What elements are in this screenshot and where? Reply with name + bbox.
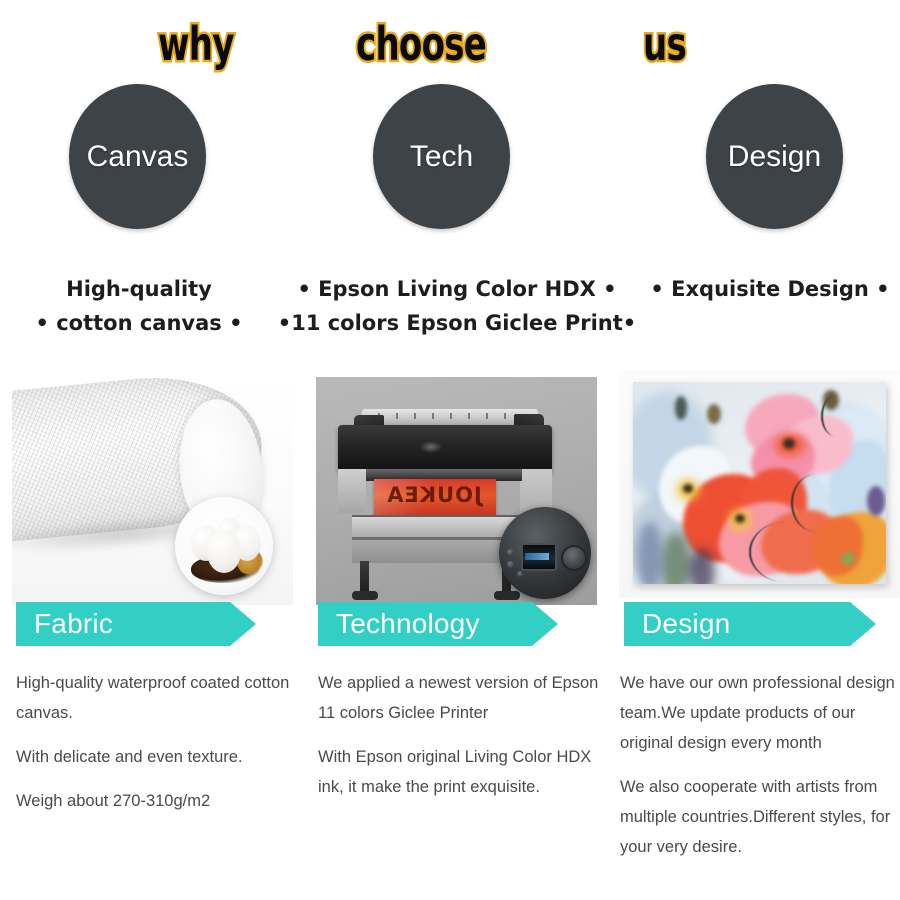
printer-foot-left <box>352 591 378 600</box>
printer-left-column <box>338 469 366 513</box>
headline-word-us: us <box>643 18 686 70</box>
headline-word-why: why <box>158 18 234 70</box>
cotton-boll <box>207 531 241 573</box>
printer-foot-right <box>494 591 520 600</box>
circle-label-tech: Tech <box>410 140 473 174</box>
feature-circle-tech: Tech <box>373 84 510 229</box>
feature-circle-canvas: Canvas <box>69 84 206 229</box>
description-column-fabric: High-quality waterproof coated cotton ca… <box>16 668 294 830</box>
bullet-block-design: • Exquisite Design • <box>650 272 890 306</box>
description-column-technology: We applied a newest version of Epson 11 … <box>318 668 600 816</box>
description-column-design: We have our own professional design team… <box>620 668 898 876</box>
bullet-block-tech: • Epson Living Color HDX • •11 colors Ep… <box>272 272 642 340</box>
canvas-roll-scene <box>12 377 293 605</box>
bullet-line: High-quality <box>24 272 254 306</box>
banner-label-design: Design <box>624 608 730 640</box>
control-panel-screen-glow <box>525 553 549 560</box>
headline-banner: why choose us <box>0 16 900 78</box>
printer-scene: JOUKEA <box>316 377 597 605</box>
flower-stem <box>821 396 849 436</box>
canvas-roll-photo <box>12 377 293 605</box>
flower-bud-purple <box>867 486 885 516</box>
circle-label-design: Design <box>728 140 821 174</box>
headline-word-choose: choose <box>356 18 486 70</box>
printer-top-bar-vents <box>378 413 518 419</box>
flower-center-dark <box>735 514 745 523</box>
printer-control-panel-inset <box>499 507 591 599</box>
cotton-boll-inset <box>175 497 273 595</box>
description-paragraph: We also cooperate with artists from mult… <box>620 772 898 862</box>
control-panel-dpad <box>561 545 587 571</box>
printer-leg-left <box>360 561 369 595</box>
control-panel-button <box>507 549 514 556</box>
printed-output-text: JOUKEA <box>378 483 490 507</box>
epson-large-format-printer-photo: JOUKEA <box>316 377 597 605</box>
description-paragraph: We have our own professional design team… <box>620 668 898 758</box>
floral-painting-canvas-photo <box>619 370 900 598</box>
control-panel-button <box>517 571 523 577</box>
flower-bud <box>707 404 721 424</box>
flower-bud <box>675 396 687 420</box>
bullet-line: • cotton canvas • <box>24 306 254 340</box>
description-paragraph: With delicate and even texture. <box>16 742 294 772</box>
flower-stem <box>791 474 841 532</box>
paint-drip-blue <box>637 522 663 584</box>
section-banner-fabric: Fabric <box>16 602 256 646</box>
description-paragraph: High-quality waterproof coated cotton ca… <box>16 668 294 728</box>
banner-label-technology: Technology <box>318 608 480 640</box>
banner-label-fabric: Fabric <box>16 608 113 640</box>
description-paragraph: Weigh about 270-310g/m2 <box>16 786 294 816</box>
description-paragraph: With Epson original Living Color HDX ink… <box>318 742 600 802</box>
control-panel-button <box>507 561 514 568</box>
flower-center-dark <box>683 484 693 493</box>
bullet-line: • Exquisite Design • <box>650 272 890 306</box>
flower-center-green <box>841 552 855 565</box>
circle-label-canvas: Canvas <box>87 140 189 174</box>
bullet-line: •11 colors Epson Giclee Print• <box>272 306 642 340</box>
bullet-line: • Epson Living Color HDX • <box>272 272 642 306</box>
painting-scene <box>619 370 900 598</box>
printer-main-body <box>338 425 552 473</box>
section-banner-design: Design <box>624 602 876 646</box>
printer-tray-seam <box>352 537 520 540</box>
flower-center-dark <box>783 438 795 449</box>
description-paragraph: We applied a newest version of Epson 11 … <box>318 668 600 728</box>
section-banner-technology: Technology <box>318 602 558 646</box>
painting-canvas <box>633 382 886 584</box>
bullet-block-canvas: High-quality • cotton canvas • <box>24 272 254 340</box>
printer-brand-logo <box>420 441 442 453</box>
feature-circle-design: Design <box>706 84 843 229</box>
